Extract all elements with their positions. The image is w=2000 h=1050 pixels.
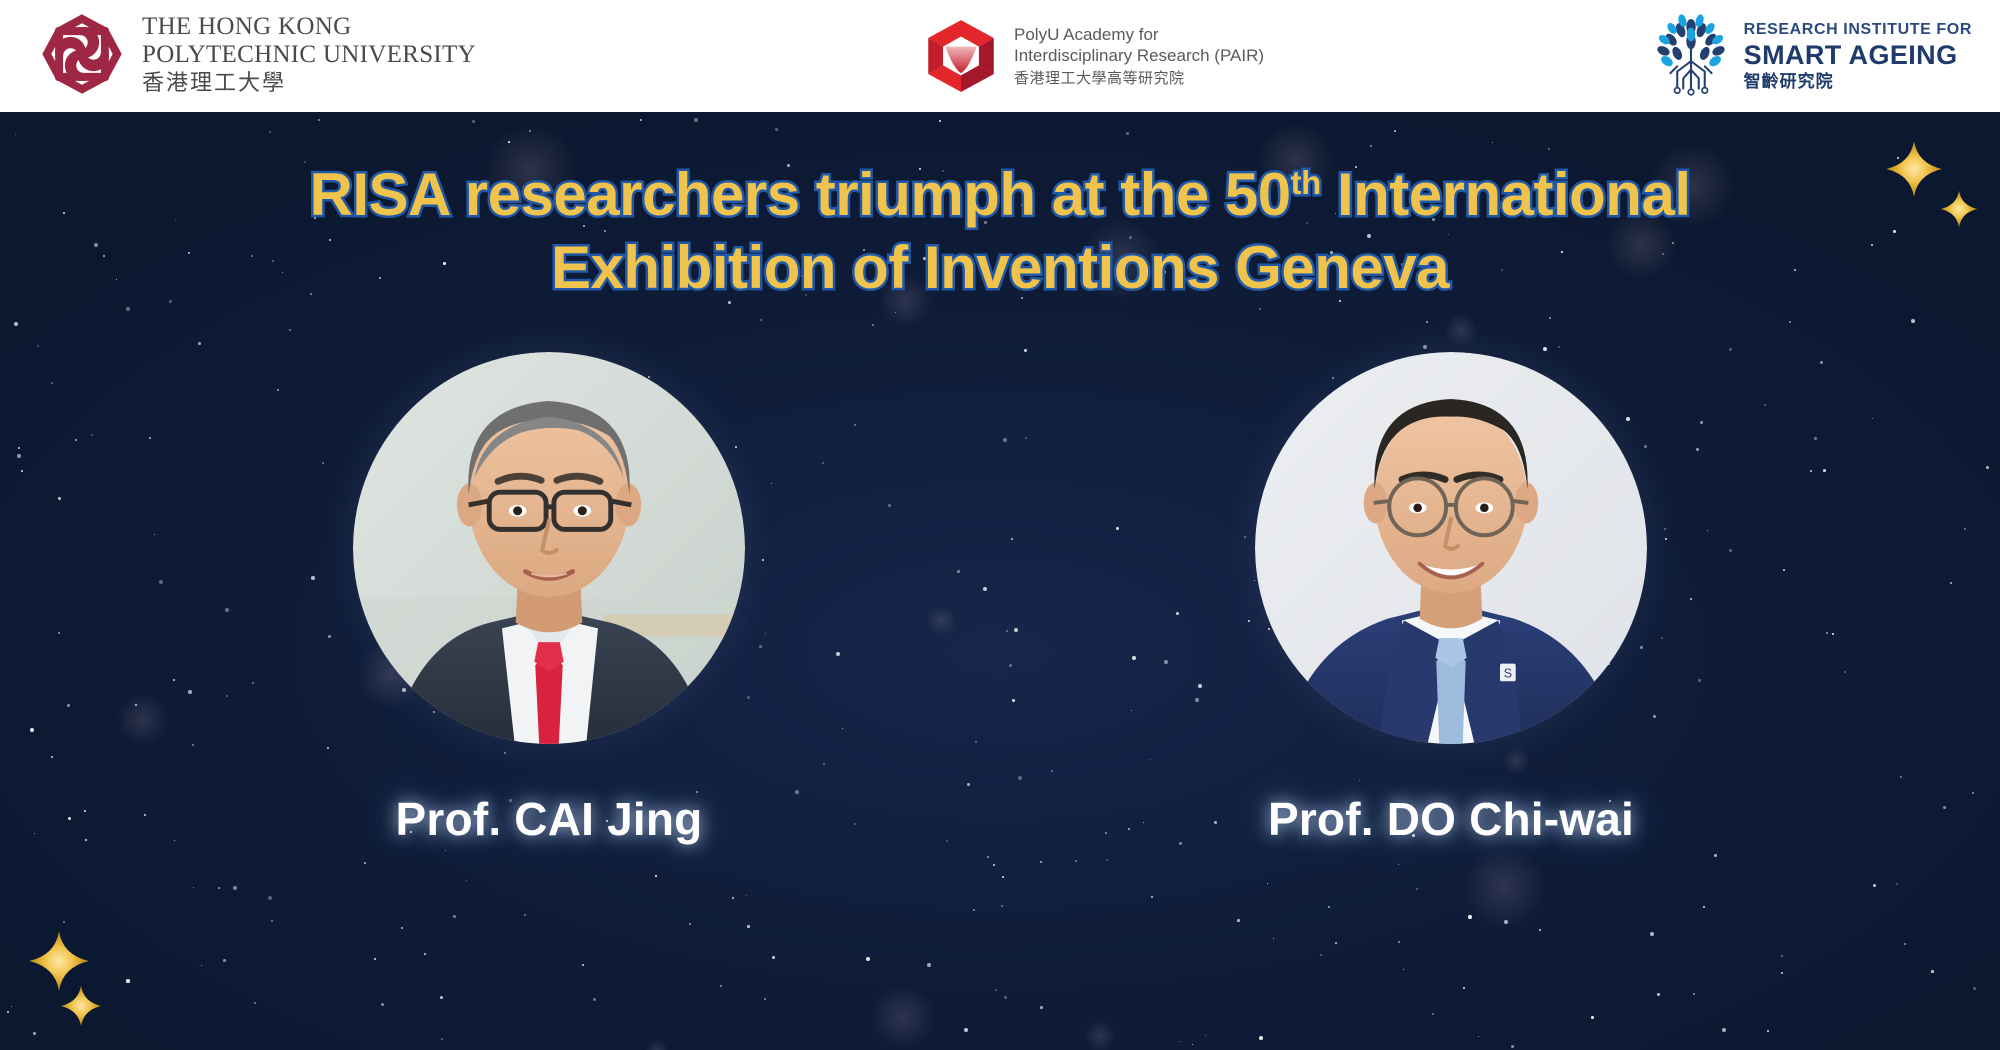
- polyu-wordmark: THE HONG KONG POLYTECHNIC UNIVERSITY 香港理…: [142, 14, 476, 94]
- person-name: Prof. DO Chi-wai: [1268, 792, 1634, 846]
- sparkle-bottom-left-small: [60, 985, 102, 1027]
- star-dot: [269, 131, 271, 133]
- star-dot: [1650, 932, 1654, 936]
- star-dot: [872, 324, 874, 326]
- star-dot: [271, 920, 273, 922]
- star-dot: [529, 130, 531, 132]
- star-dot: [655, 875, 657, 877]
- star-dot: [939, 120, 941, 122]
- star-dot: [33, 1032, 36, 1035]
- star-dot: [1259, 1036, 1263, 1040]
- star-dot: [218, 887, 220, 889]
- star-dot: [364, 862, 366, 864]
- pair-name-line2: Interdisciplinary Research (PAIR): [1014, 45, 1264, 67]
- star-dot: [760, 319, 762, 321]
- star-dot: [445, 850, 446, 851]
- star-dot: [1328, 906, 1330, 908]
- star-dot: [746, 895, 747, 896]
- star-dot: [927, 963, 931, 967]
- star-dot: [995, 989, 997, 991]
- smart-ageing-logo: RESEARCH INSTITUTE FOR SMART AGEING 智齡研究…: [1648, 12, 1972, 100]
- pair-wordmark: PolyU Academy for Interdisciplinary Rese…: [1014, 24, 1264, 89]
- star-dot: [1591, 1016, 1594, 1019]
- star-dot: [694, 118, 698, 122]
- star-dot: [289, 329, 291, 331]
- star-dot: [689, 923, 691, 925]
- star-dot: [764, 998, 766, 1000]
- star-dot: [1335, 942, 1337, 944]
- star-dot: [1781, 955, 1783, 957]
- star-dot: [1463, 987, 1465, 989]
- star-dot: [1693, 993, 1695, 995]
- star-dot: [126, 979, 130, 983]
- star-dot: [1180, 1041, 1181, 1042]
- star-dot: [198, 342, 201, 345]
- star-dot: [1075, 860, 1077, 862]
- polyu-name-line2: POLYTECHNIC UNIVERSITY: [142, 42, 476, 67]
- star-dot: [1657, 993, 1660, 996]
- nebula-blob: [1444, 313, 1478, 347]
- star-dot: [63, 921, 65, 923]
- star-dot: [1549, 317, 1551, 319]
- star-dot: [11, 1006, 12, 1007]
- svg-text:S: S: [1504, 665, 1513, 680]
- smart-ageing-line2: SMART AGEING: [1744, 40, 1972, 70]
- star-dot: [720, 985, 722, 987]
- nebula-blob: [1462, 845, 1546, 929]
- star-dot: [1468, 915, 1472, 919]
- star-dot: [1106, 859, 1108, 861]
- star-dot: [453, 915, 456, 918]
- smart-ageing-tree-logo-icon: [1648, 12, 1734, 100]
- star-dot: [1729, 348, 1732, 351]
- star-dot: [1781, 972, 1783, 974]
- star-dot: [747, 925, 750, 928]
- star-dot: [895, 312, 896, 313]
- star-dot: [1040, 1006, 1043, 1009]
- star-dot: [640, 119, 642, 121]
- polyu-logo: THE HONG KONG POLYTECHNIC UNIVERSITY 香港理…: [38, 8, 476, 100]
- star-dot: [1126, 132, 1129, 135]
- star-dot: [866, 957, 870, 961]
- star-dot: [7, 1011, 9, 1013]
- star-dot: [1205, 1035, 1206, 1036]
- honourees-row: Prof. CAI Jing: [0, 352, 2000, 846]
- star-dot: [1767, 1030, 1769, 1032]
- star-dot: [593, 998, 596, 1001]
- star-dot: [775, 128, 778, 131]
- star-dot: [1911, 319, 1915, 323]
- avatar: S: [1255, 352, 1647, 744]
- portrait-photo-do-chi-wai: S: [1255, 352, 1647, 744]
- star-dot: [1398, 941, 1400, 943]
- star-dot: [126, 307, 130, 311]
- smart-ageing-line1: RESEARCH INSTITUTE FOR: [1744, 21, 1972, 39]
- star-dot: [1722, 1028, 1726, 1032]
- star-dot: [1001, 905, 1003, 907]
- star-dot: [1370, 145, 1372, 147]
- star-dot: [381, 1003, 384, 1006]
- smart-ageing-chinese: 智齡研究院: [1744, 72, 1972, 91]
- star-dot: [1714, 854, 1717, 857]
- star-dot: [582, 964, 584, 966]
- star-dot: [1403, 969, 1404, 970]
- polyu-name-chinese: 香港理工大學: [142, 72, 476, 94]
- star-dot: [524, 914, 526, 916]
- person-name: Prof. CAI Jing: [396, 792, 703, 846]
- star-dot: [1896, 883, 1898, 885]
- star-dot: [441, 1038, 443, 1040]
- smart-ageing-wordmark: RESEARCH INSTITUTE FOR SMART AGEING 智齡研究…: [1744, 21, 1972, 91]
- presentation-slide: THE HONG KONG POLYTECHNIC UNIVERSITY 香港理…: [0, 0, 2000, 1050]
- star-dot: [1320, 954, 1322, 956]
- pair-name-line1: PolyU Academy for: [1014, 24, 1264, 46]
- star-dot: [440, 996, 443, 999]
- star-dot: [1558, 346, 1560, 348]
- star-dot: [1002, 876, 1004, 878]
- star-dot: [401, 927, 403, 929]
- star-dot: [1703, 906, 1705, 908]
- star-dot: [472, 120, 475, 123]
- star-dot: [1873, 884, 1876, 887]
- star-dot: [1478, 1036, 1479, 1037]
- star-dot: [1504, 920, 1508, 924]
- star-dot: [1543, 347, 1547, 351]
- star-dot: [1259, 308, 1261, 310]
- star-dot: [1789, 321, 1791, 323]
- star-dot: [37, 345, 39, 347]
- star-dot: [964, 1028, 968, 1032]
- star-dot: [508, 141, 510, 143]
- title-part1: RISA researchers triumph at the 50: [309, 161, 1290, 228]
- pair-cube-logo-icon: [922, 17, 1000, 95]
- star-dot: [1398, 864, 1399, 865]
- star-dot: [1004, 996, 1007, 999]
- star-dot: [15, 134, 16, 135]
- sparkle-bottom-left-large: [28, 930, 90, 992]
- star-dot: [318, 119, 320, 121]
- star-dot: [1192, 1044, 1193, 1045]
- polyu-knot-logo-icon: [38, 8, 126, 100]
- star-dot: [1931, 970, 1934, 973]
- star-dot: [993, 864, 995, 866]
- person-card: Prof. CAI Jing: [353, 352, 745, 846]
- star-dot: [424, 953, 426, 955]
- star-dot: [973, 909, 975, 911]
- star-dot: [772, 956, 775, 959]
- star-dot: [1273, 938, 1274, 939]
- star-dot: [254, 1002, 256, 1004]
- star-dot: [987, 856, 989, 858]
- nebula-blob: [1084, 1020, 1116, 1050]
- star-dot: [233, 886, 237, 890]
- star-dot: [1151, 896, 1153, 898]
- star-dot: [1040, 861, 1042, 863]
- star-dot: [1904, 943, 1906, 945]
- star-dot: [268, 896, 272, 900]
- star-dot: [1492, 142, 1493, 143]
- star-dot: [732, 897, 734, 899]
- star-dot: [1394, 130, 1396, 132]
- star-dot: [1237, 919, 1240, 922]
- portrait-photo-cai-jing: [353, 352, 745, 744]
- page-title: RISA researchers triumph at the 50th Int…: [0, 158, 2000, 304]
- star-dot: [14, 322, 18, 326]
- star-dot: [1423, 345, 1427, 349]
- nebula-blob: [645, 1039, 669, 1050]
- star-dot: [1426, 321, 1428, 323]
- star-dot: [1539, 929, 1541, 931]
- star-dot: [466, 880, 467, 881]
- star-dot: [1973, 987, 1976, 990]
- avatar: [353, 352, 745, 744]
- polyu-name-line1: THE HONG KONG: [142, 14, 476, 39]
- star-dot: [1548, 148, 1550, 150]
- star-dot: [1267, 883, 1268, 884]
- pair-logo: PolyU Academy for Interdisciplinary Rese…: [922, 17, 1264, 95]
- star-dot: [374, 958, 376, 960]
- pair-name-chinese: 香港理工大學高等研究院: [1014, 69, 1264, 88]
- star-dot: [1511, 1045, 1514, 1048]
- star-dot: [1416, 888, 1418, 890]
- star-dot: [193, 887, 194, 888]
- star-dot: [223, 959, 226, 962]
- logo-header-bar: THE HONG KONG POLYTECHNIC UNIVERSITY 香港理…: [0, 0, 2000, 112]
- star-dot: [201, 965, 202, 966]
- title-ordinal-suffix: th: [1291, 164, 1321, 201]
- person-card: S: [1255, 352, 1647, 846]
- nebula-blob: [870, 985, 935, 1050]
- slide-title-block: RISA researchers triumph at the 50th Int…: [0, 158, 2000, 304]
- star-dot: [1432, 1013, 1434, 1015]
